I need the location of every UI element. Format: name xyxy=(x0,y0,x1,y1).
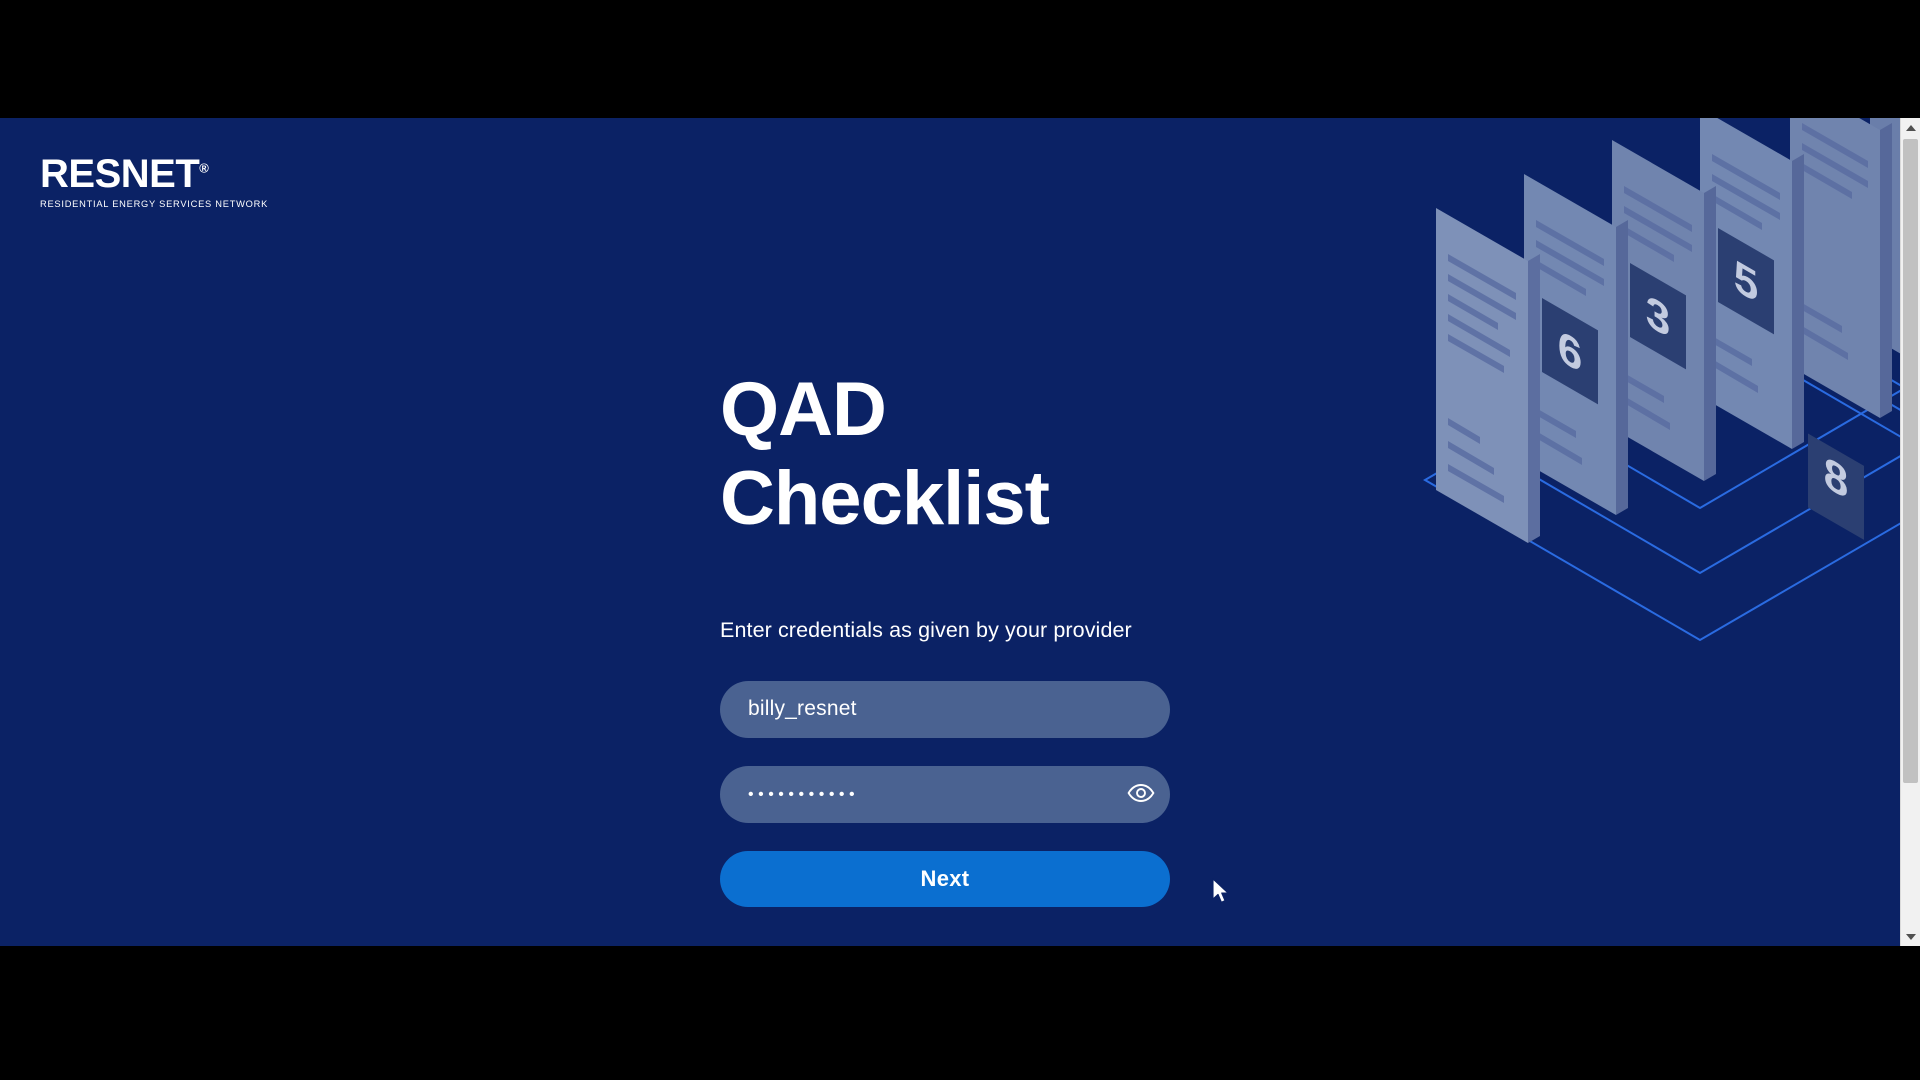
credentials-subtitle: Enter credentials as given by your provi… xyxy=(720,618,1190,643)
page-title-line-1: QAD xyxy=(720,367,886,452)
next-button[interactable]: Next xyxy=(720,851,1170,907)
login-form: ••••••••••• Next xyxy=(720,681,1170,907)
logo-word-text: RESNET xyxy=(40,152,199,196)
eye-icon xyxy=(1127,784,1155,805)
scroll-thumb[interactable] xyxy=(1903,139,1918,783)
scroll-down-arrow[interactable] xyxy=(1901,927,1920,946)
svg-text:5: 5 xyxy=(1734,250,1758,313)
toggle-password-visibility-button[interactable] xyxy=(1112,766,1170,823)
username-input[interactable] xyxy=(720,697,1170,721)
registered-trademark-icon: ® xyxy=(199,161,208,176)
logo-wordmark: RESNET® xyxy=(40,154,230,194)
password-masked-value[interactable]: ••••••••••• xyxy=(720,766,1112,823)
isometric-documents-illustration: 8 xyxy=(1400,118,1900,648)
login-content: QAD Checklist Enter credentials as given… xyxy=(720,118,1190,907)
triangle-down-icon xyxy=(1906,934,1916,940)
password-field[interactable]: ••••••••••• xyxy=(720,766,1170,823)
resnet-logo: RESNET® RESIDENTIAL ENERGY SERVICES NETW… xyxy=(40,154,230,209)
page-title: QAD Checklist xyxy=(720,366,1190,544)
scroll-up-arrow[interactable] xyxy=(1901,118,1920,137)
triangle-up-icon xyxy=(1906,125,1916,131)
username-field[interactable] xyxy=(720,681,1170,738)
page-title-line-2: Checklist xyxy=(720,456,1049,541)
svg-text:6: 6 xyxy=(1558,320,1582,383)
vertical-scrollbar[interactable] xyxy=(1900,118,1920,946)
login-page: 8 xyxy=(0,118,1900,946)
logo-tagline: RESIDENTIAL ENERGY SERVICES NETWORK xyxy=(40,199,230,209)
svg-text:8: 8 xyxy=(1824,447,1848,510)
svg-text:3: 3 xyxy=(1646,285,1670,348)
screen: 8 xyxy=(0,0,1920,1080)
browser-viewport: 8 xyxy=(0,118,1920,946)
